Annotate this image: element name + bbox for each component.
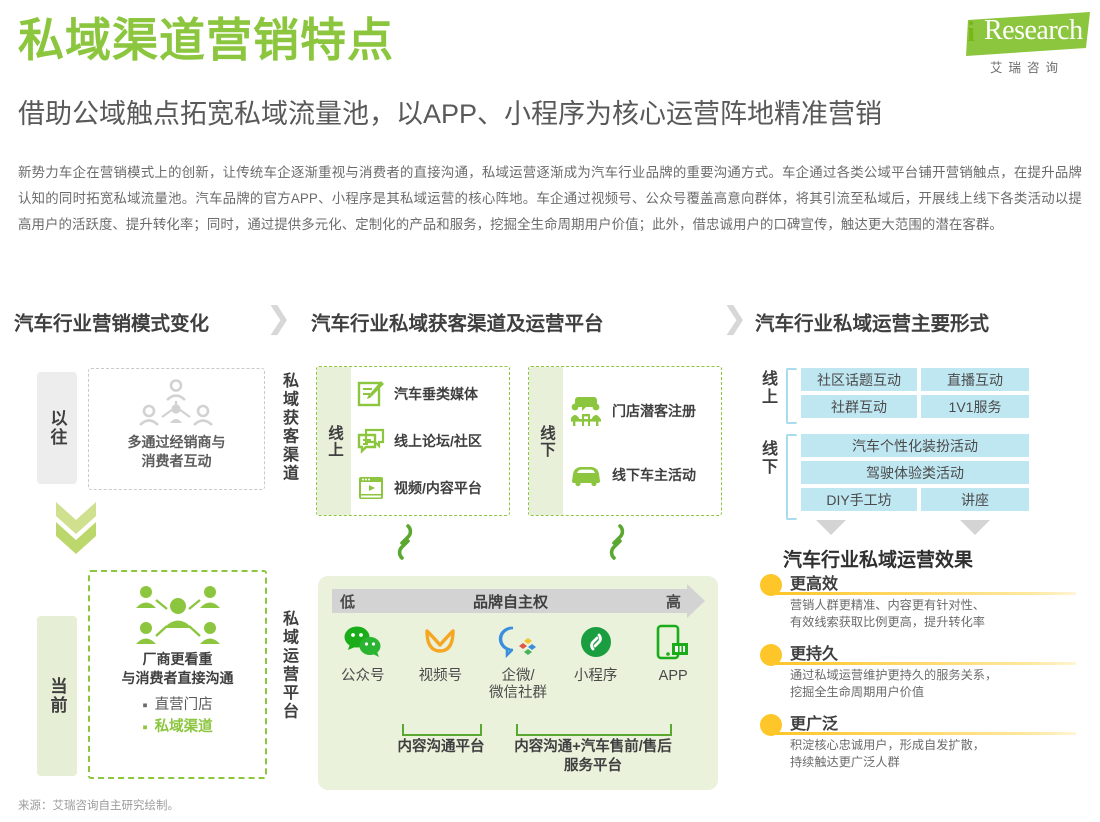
effect-underline: [776, 732, 1076, 735]
effect-body: 通过私域运营维护更持久的服务关系， 挖掘全生命周期用户价值: [790, 667, 1080, 701]
iresearch-logo: i Research 艾瑞咨询: [958, 12, 1090, 74]
platform-wecom-community: 企微/ 微信社群: [479, 620, 557, 702]
chain-link-icon: [602, 520, 632, 564]
bracket-caption-line2: 服务平台: [508, 757, 678, 776]
bullet-private-channel-label: 私域渠道: [155, 716, 213, 738]
platform-label: 公众号: [341, 668, 385, 685]
effect-underline: [776, 662, 1076, 665]
bracket-caption-content-platform: 内容沟通平台: [370, 738, 512, 757]
mini-program-link-icon: [577, 620, 615, 664]
logo-wordmark: Research: [984, 15, 1083, 47]
label-offline-forms: 线下: [755, 440, 779, 476]
channel-item-video-platform: 视频/内容平台: [351, 474, 505, 502]
network-people-icon: [135, 379, 217, 431]
label-acquisition-channels: 私域获客渠道: [280, 372, 296, 483]
page-subtitle: 借助公域触点拓宽私域流量池，以APP、小程序为核心运营阵地精准营销: [18, 98, 1078, 130]
online-band-label: 线上: [323, 425, 345, 458]
chip-diy-workshop[interactable]: DIY手工坊: [801, 488, 917, 511]
offline-channel-list: 门店潜客注册 线下车主活动: [563, 367, 717, 515]
people-direct-connect-icon: [132, 584, 224, 646]
card-past-model: 多通过经销商与 消费者互动: [88, 368, 265, 490]
logo-chinese-name: 艾瑞咨询: [968, 57, 1086, 76]
online-band: 线上: [317, 367, 351, 515]
page-title: 私域渠道营销特点: [18, 16, 718, 64]
effect-body-line2: 挖掘全生命周期用户价值: [790, 684, 1080, 701]
card-current-caption: 厂商更看重 与消费者直接沟通: [90, 650, 265, 688]
card-past-caption-line2: 消费者互动: [89, 452, 264, 471]
platform-app: APP: [634, 620, 712, 685]
effect-body-line2: 有效线索获取比例更高，提升转化率: [790, 614, 1080, 631]
chip-car-personalization-event[interactable]: 汽车个性化装扮活动: [801, 434, 1029, 457]
chip-community-topic[interactable]: 社区话题互动: [801, 368, 917, 391]
section-header-acquisition-platform: 汽车行业私域获客渠道及运营平台: [311, 307, 604, 336]
stage-tab-past-label: 以往: [45, 409, 70, 447]
effect-body-line2: 持续触达更广泛人群: [790, 754, 1080, 771]
channel-item-online-forum: 线上论坛/社区: [351, 427, 505, 455]
label-online-forms: 线上: [755, 370, 779, 406]
brand-authority-bar: 低 品牌自主权 高: [332, 589, 687, 613]
car-icon: [569, 463, 603, 487]
effect-body-line1: 营销人群更精准、内容更有针对性、: [790, 597, 1080, 614]
channel-label: 汽车垂类媒体: [394, 384, 478, 404]
platform-official-account: 公众号: [324, 620, 402, 685]
section-header-marketing-change: 汽车行业营销模式变化: [14, 307, 209, 336]
wecom-community-icon: [498, 620, 538, 664]
offline-band: 线下: [529, 367, 563, 515]
bullet-direct-store: ▪ 直营门店: [90, 694, 265, 716]
effect-body-line1: 积淀核心忠诚用户，形成自发扩散，: [790, 737, 1080, 754]
bullet-dot-icon: ▪: [142, 720, 147, 735]
chevron-down-icon: [960, 520, 990, 535]
platform-label: APP: [659, 668, 688, 685]
platform-label-line2: 微信社群: [489, 685, 547, 702]
source-note: 来源：艾瑞咨询自主研究绘制。: [18, 797, 179, 813]
channel-label: 线下车主活动: [612, 465, 696, 485]
platform-label: 小程序: [574, 668, 618, 685]
card-current-caption-line1: 厂商更看重: [90, 650, 265, 669]
effect-body: 营销人群更精准、内容更有针对性、 有效线索获取比例更高，提升转化率: [790, 597, 1080, 631]
channel-item-vertical-media: 汽车垂类媒体: [351, 380, 505, 408]
card-past-caption: 多通过经销商与 消费者互动: [89, 433, 264, 471]
speech-bubbles-icon: [357, 427, 385, 455]
offline-band-label: 线下: [535, 425, 557, 458]
panel-private-operation-platforms: 低 品牌自主权 高: [318, 576, 718, 790]
people-table-talk-icon: [569, 395, 603, 427]
bracket-online-icon: [786, 368, 797, 424]
effect-body: 积淀核心忠诚用户，形成自发扩散， 持续触达更广泛人群: [790, 737, 1080, 771]
video-player-icon: [357, 474, 385, 502]
double-chevron-down-icon: [52, 500, 100, 558]
stage-tab-current: 当前: [37, 616, 77, 776]
stage-tab-current-label: 当前: [45, 677, 70, 715]
authority-low-label: 低: [340, 591, 355, 612]
bullet-direct-store-label: 直营门店: [155, 694, 213, 716]
bracket-service-platform: [516, 724, 672, 736]
channel-item-store-lead-register: 门店潜客注册: [563, 395, 717, 427]
effect-title-label: 更广泛: [790, 710, 838, 734]
platform-row: 公众号 视频号: [324, 620, 712, 702]
effect-title-label: 更高效: [790, 570, 838, 594]
bracket-caption-service-platform: 内容沟通+汽车售前/售后 服务平台: [508, 738, 678, 776]
chip-group-interaction[interactable]: 社群互动: [801, 395, 917, 418]
platform-mini-program: 小程序: [557, 620, 635, 685]
label-operation-platforms: 私域运营平台: [280, 610, 296, 721]
platform-label-line1: 企微/: [489, 668, 547, 685]
chip-lecture[interactable]: 讲座: [921, 488, 1029, 511]
card-past-caption-line1: 多通过经销商与: [89, 433, 264, 452]
channel-label: 线上论坛/社区: [394, 431, 482, 451]
platform-label: 企微/ 微信社群: [489, 668, 547, 702]
wechat-icon: [343, 620, 383, 664]
card-current-caption-line2: 与消费者直接沟通: [90, 669, 265, 688]
effects-title: 汽车行业私域运营效果: [783, 545, 1083, 572]
chevron-down-icon: [816, 520, 846, 535]
bracket-offline-icon: [786, 434, 797, 520]
chip-live-interaction[interactable]: 直播互动: [921, 368, 1029, 391]
bullet-private-channel: ▪ 私域渠道: [90, 716, 265, 738]
box-offline-channels: 线下 门店潜客注册: [528, 366, 722, 516]
card-current-model: 厂商更看重 与消费者直接沟通 ▪ 直营门店 ▪ 私域渠道: [88, 570, 267, 779]
effect-body-line1: 通过私域运营维护更持久的服务关系，: [790, 667, 1080, 684]
app-phone-icon: [656, 620, 690, 664]
authority-arrow-icon: [687, 584, 705, 618]
channel-item-offline-owner-event: 线下车主活动: [563, 463, 717, 487]
platform-label: 视频号: [419, 668, 463, 685]
bullet-dot-icon: ▪: [142, 698, 147, 713]
section-header-operation-forms: 汽车行业私域运营主要形式: [755, 307, 989, 336]
wechat-channels-icon: [421, 620, 459, 664]
chevron-right-icon: ❯: [266, 305, 288, 335]
chip-driving-experience-event[interactable]: 驾驶体验类活动: [801, 461, 1029, 484]
channel-label: 视频/内容平台: [394, 478, 482, 498]
authority-high-label: 高: [666, 591, 681, 612]
chip-one-to-one-service[interactable]: 1V1服务: [921, 395, 1029, 418]
effect-title-label: 更持久: [790, 640, 838, 664]
channel-label: 门店潜客注册: [612, 401, 696, 421]
online-channel-list: 汽车垂类媒体 线上论坛/社区 视频/内容平台: [351, 367, 505, 515]
pencil-document-icon: [357, 380, 385, 408]
box-online-channels: 线上 汽车垂类媒体 线上论坛/社区: [316, 366, 510, 516]
bracket-caption-line1: 内容沟通+汽车售前/售后: [508, 738, 678, 757]
stage-tab-past: 以往: [37, 372, 77, 484]
chevron-right-icon: ❯: [722, 305, 744, 335]
logo-i-letter: i: [967, 16, 975, 49]
platform-channels: 视频号: [402, 620, 480, 685]
effect-underline: [776, 592, 1076, 595]
chain-link-icon: [390, 520, 420, 564]
authority-title: 品牌自主权: [355, 591, 666, 612]
bracket-content-platform: [402, 724, 482, 736]
intro-paragraph: 新势力车企在营销模式上的创新，让传统车企逐渐重视与消费者的直接沟通，私域运营逐渐…: [18, 160, 1082, 238]
card-current-bullets: ▪ 直营门店 ▪ 私域渠道: [90, 694, 265, 738]
